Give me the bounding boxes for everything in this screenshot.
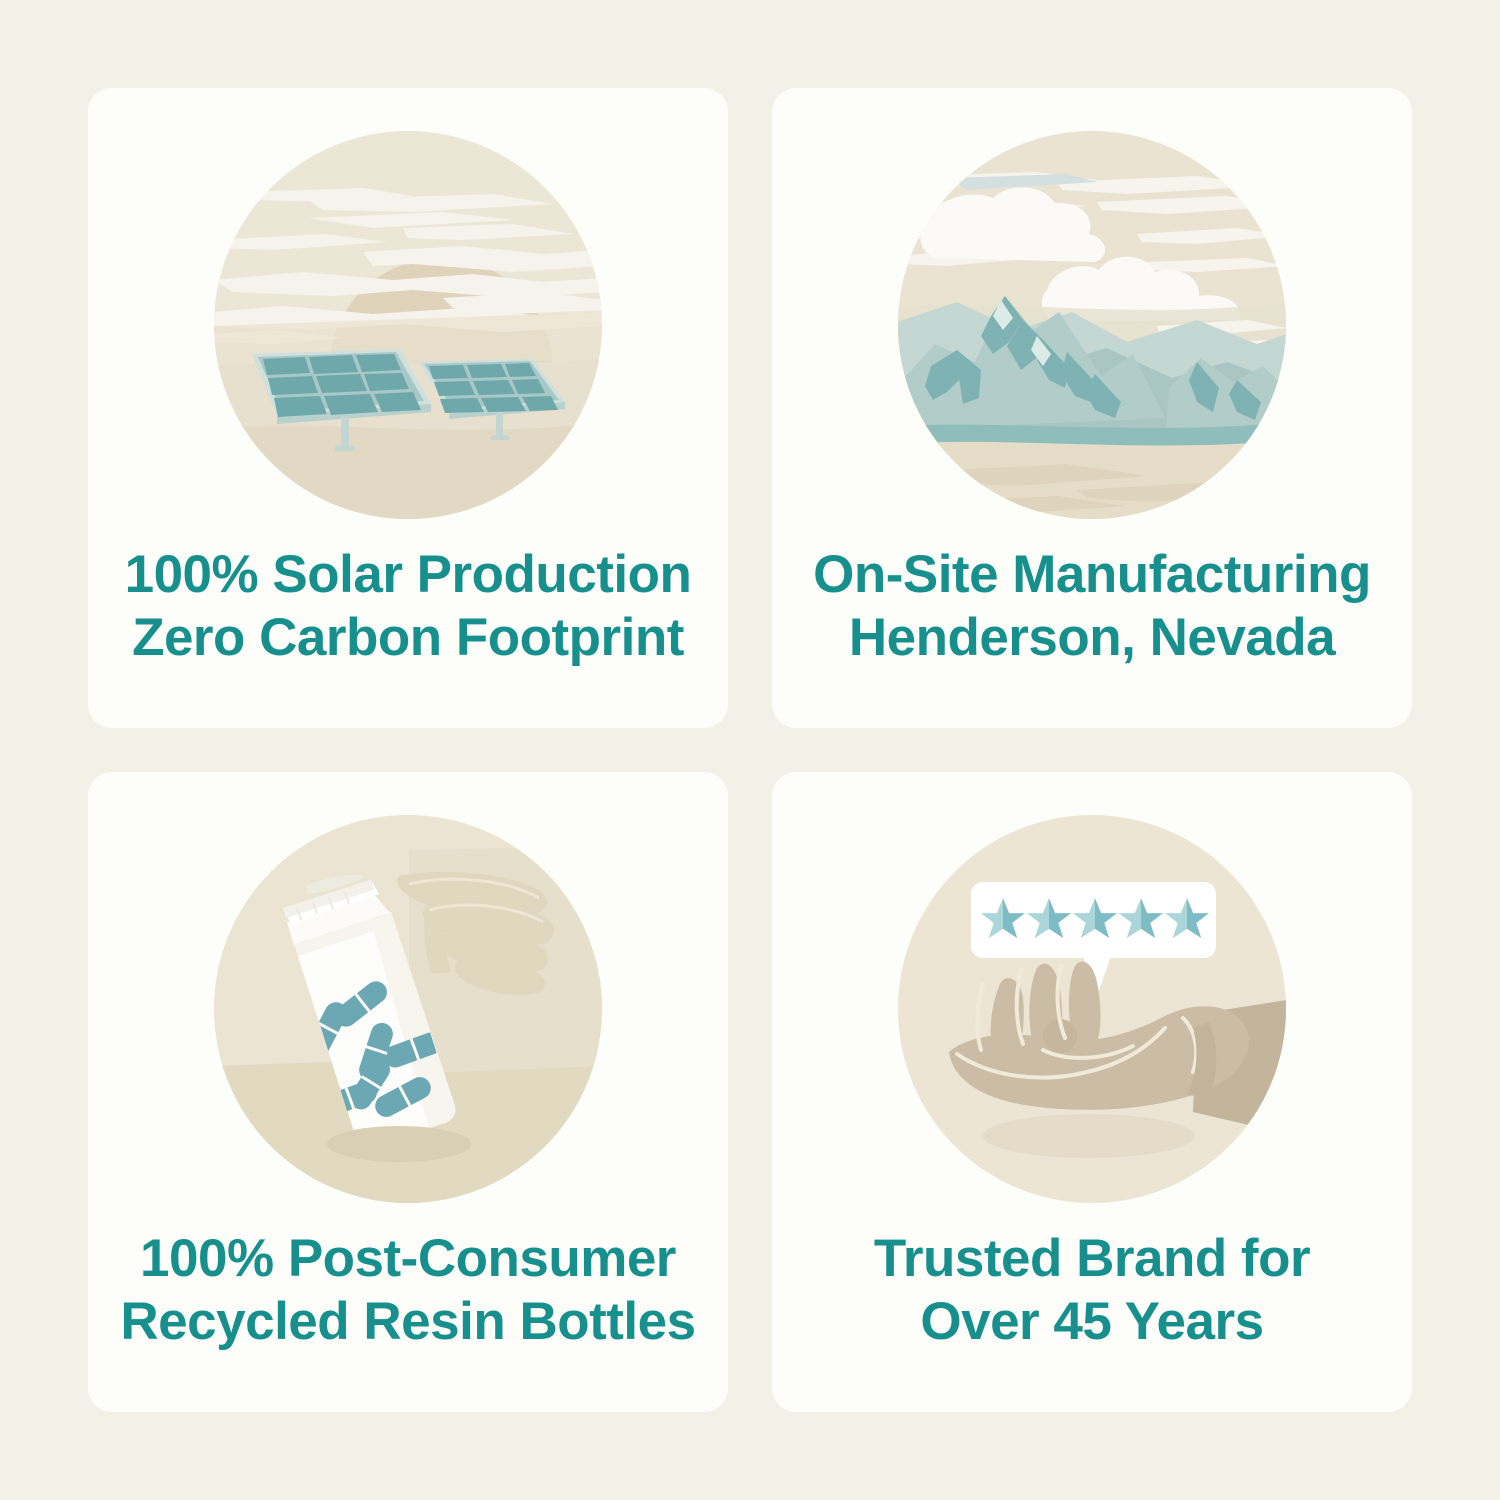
desert-mountains-icon: [897, 130, 1287, 520]
card-caption: 100% Post-Consumer Recycled Resin Bottle…: [102, 1228, 713, 1353]
feature-card-solar-production: 100% Solar Production Zero Carbon Footpr…: [88, 88, 728, 728]
hand-five-stars-icon: [897, 814, 1287, 1204]
card-caption: Trusted Brand for Over 45 Years: [856, 1228, 1328, 1353]
hand-five-stars-illustration: [897, 814, 1287, 1204]
desert-mountains-illustration: [897, 130, 1287, 520]
feature-card-trusted-brand: Trusted Brand for Over 45 Years: [772, 772, 1412, 1412]
solar-panels-icon: [213, 130, 603, 520]
feature-card-recycled-resin-bottles: 100% Post-Consumer Recycled Resin Bottle…: [88, 772, 728, 1412]
feature-grid: 100% Solar Production Zero Carbon Footpr…: [0, 0, 1500, 1500]
feature-card-on-site-manufacturing: On-Site Manufacturing Henderson, Nevada: [772, 88, 1412, 728]
supplement-bottle-illustration: [213, 814, 603, 1204]
solar-panels-illustration: [213, 130, 603, 520]
card-caption: 100% Solar Production Zero Carbon Footpr…: [107, 544, 710, 669]
supplement-bottle-icon: [213, 814, 603, 1204]
card-caption: On-Site Manufacturing Henderson, Nevada: [795, 544, 1389, 669]
